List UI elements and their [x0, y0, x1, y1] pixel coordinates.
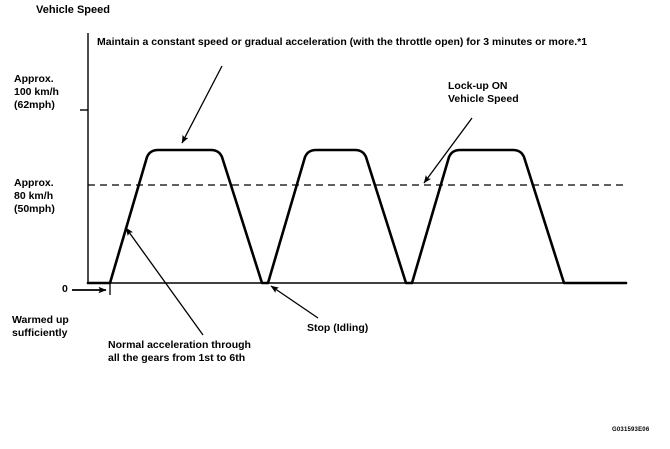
- leader-normal-acceleration: [126, 228, 203, 335]
- leader-maintain-speed: [182, 66, 222, 143]
- vehicle-speed-curve: [88, 150, 626, 283]
- leader-stop-idling: [271, 286, 318, 318]
- figure-container: Vehicle Speed Maintain a constant speed …: [0, 0, 670, 449]
- vehicle-speed-plot: [0, 0, 670, 449]
